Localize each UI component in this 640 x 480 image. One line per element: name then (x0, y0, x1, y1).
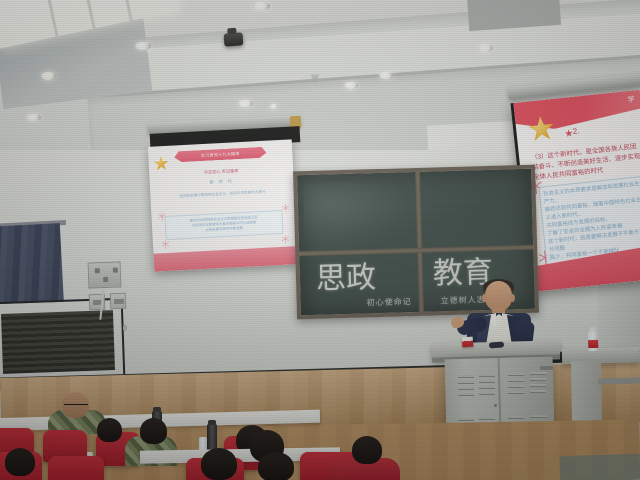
lecture-hall-photo: 学习贯彻十九大精神 不忘初心 牢记使命 新 时 代 坚持和发展中国特色社会主义，… (0, 0, 640, 480)
left-slide-subtitle: 新 时 代 (178, 177, 265, 188)
downlight (41, 72, 56, 80)
attendee-head (201, 448, 237, 480)
wall-control-panel[interactable] (88, 261, 122, 288)
presenter-ear (482, 294, 487, 302)
blackboard-note-left: 初心使命记 (367, 296, 412, 308)
attendee-head (97, 418, 122, 442)
right-slide-heading: 2. (572, 126, 580, 136)
party-emblem-icon (153, 156, 169, 172)
presenter-ear (510, 294, 515, 302)
downlight (270, 104, 278, 109)
left-slide-banner-text: 学习贯彻十九大精神 (174, 147, 267, 163)
right-slide-band-text: 学 (627, 94, 635, 105)
attendee-glasses-icon (8, 464, 34, 467)
window-curtain[interactable] (0, 223, 64, 312)
left-slide-textbox: 新时代中国特色社会主义思想是全党全国人民 为实现中华民族伟大复兴而奋斗的行动指南… (164, 210, 283, 240)
snowflake-decoration-icon (161, 240, 170, 249)
wall-fixing-screw (123, 325, 127, 331)
blackboard-text-left: 思政 (316, 263, 377, 295)
attendee-head (258, 452, 294, 480)
power-outlet[interactable] (110, 293, 127, 310)
attendee-head (352, 436, 382, 464)
chalk-smudge (303, 180, 410, 245)
lectern-item-pack[interactable] (462, 337, 474, 348)
downlight (344, 82, 358, 89)
left-slide-banner: 学习贯彻十九大精神 (174, 147, 267, 163)
presenter-head (485, 281, 512, 311)
bottle-label (588, 340, 598, 348)
auditorium-seat[interactable] (48, 456, 104, 480)
lectern-item-device[interactable] (489, 341, 504, 348)
downlight (253, 2, 270, 10)
attendee-head (5, 448, 35, 476)
lectern-label-plate (540, 366, 553, 370)
attendee-glasses-icon (64, 404, 88, 407)
ceiling-projector-icon (224, 32, 244, 46)
downlight (379, 72, 393, 79)
left-slide-body: 坚持和发展中国特色社会主义，实现中华民族伟大复兴 (165, 188, 280, 200)
snowflake-decoration-icon (281, 235, 290, 244)
downlight (135, 42, 151, 50)
downlight (26, 114, 41, 121)
board-mullion-vertical (415, 172, 424, 312)
lectern-lock-icon[interactable] (494, 404, 497, 407)
downlight (238, 100, 253, 107)
attendee-head (140, 418, 167, 444)
ventilation-grille (1, 310, 115, 374)
bottle-cap (590, 327, 596, 332)
water-bottle[interactable] (588, 327, 599, 351)
floor-edge-strip (560, 454, 640, 480)
left-projection-screen[interactable]: 学习贯彻十九大精神 不忘初心 牢记使命 新 时 代 坚持和发展中国特色社会主义，… (148, 139, 298, 271)
downlight (478, 44, 493, 52)
